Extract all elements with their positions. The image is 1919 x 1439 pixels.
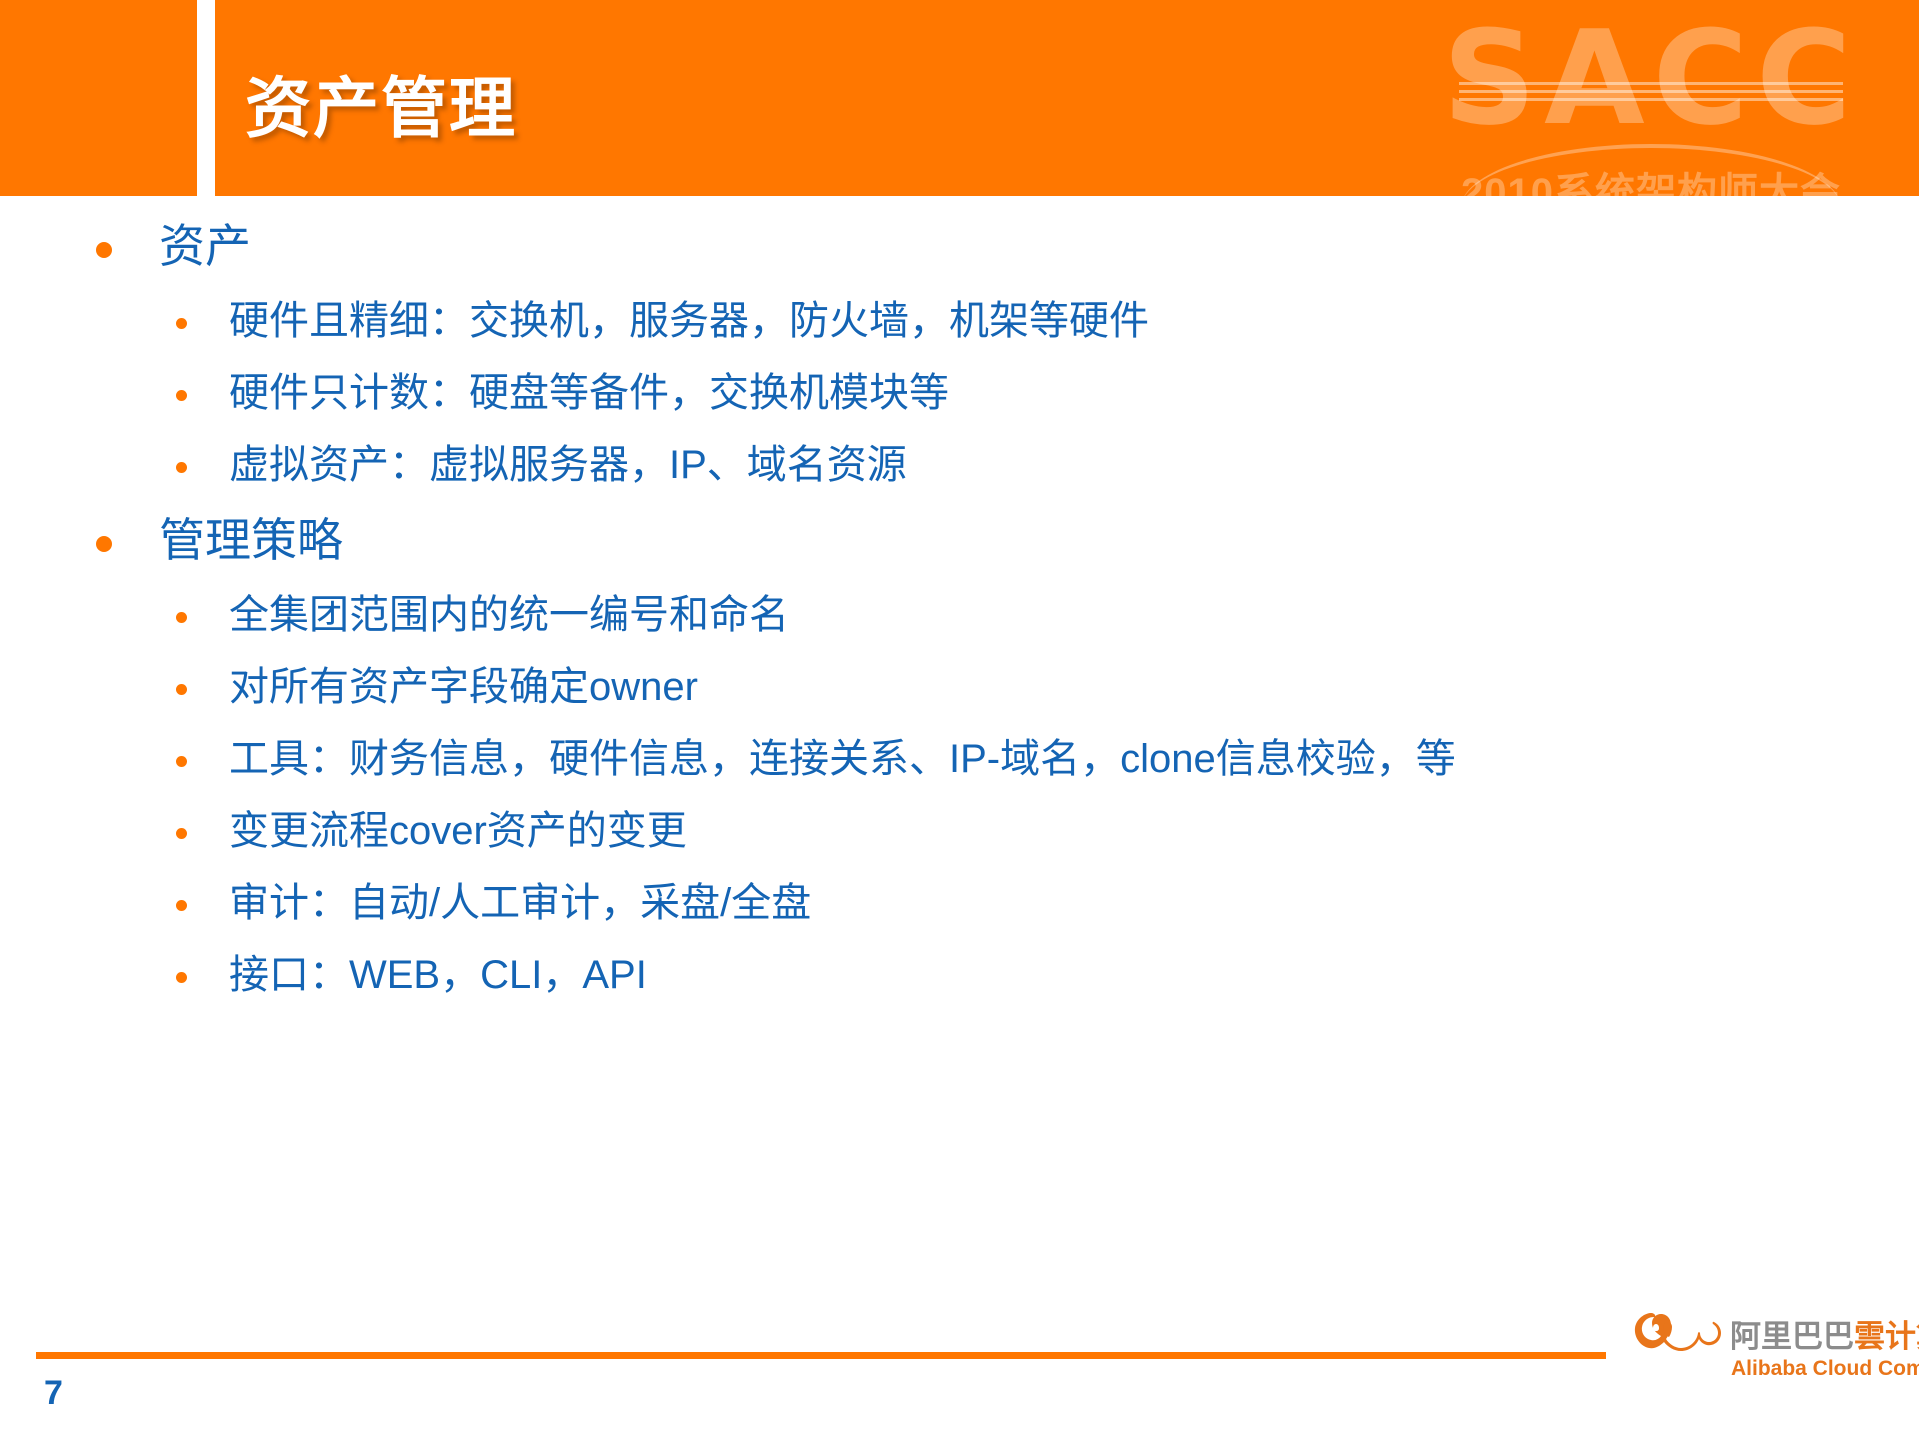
bullet-level2: 硬件且精细：交换机，服务器，防火墙，机架等硬件: [176, 296, 1919, 346]
alibaba-cloud-name-cn-accent: 雲计算: [1854, 1319, 1919, 1354]
bullet-marker-icon: [176, 318, 187, 329]
alibaba-cloud-logo: 阿里巴巴雲计算 Alibaba Cloud Computing: [1630, 1283, 1910, 1405]
bullet-level2: 对所有资产字段确定owner: [176, 662, 1919, 712]
bullet-level2-label: 接口：WEB，CLI，API: [229, 950, 647, 1000]
bullet-level1: 管理策略: [96, 512, 1919, 568]
bullet-level2-label: 全集团范围内的统一编号和命名: [229, 590, 789, 640]
bullet-level2-label: 硬件且精细：交换机，服务器，防火墙，机架等硬件: [229, 296, 1149, 346]
bullet-level2: 工具：财务信息，硬件信息，连接关系、IP-域名，clone信息校验，等: [176, 734, 1919, 784]
alibaba-cloud-name-cn: 阿里巴巴雲计算: [1730, 1311, 1919, 1356]
alibaba-cloud-name-en: Alibaba Cloud Computing: [1731, 1357, 1919, 1381]
alibaba-cloud-name-cn-primary: 阿里巴巴: [1730, 1319, 1854, 1354]
bullet-level1: 资产: [96, 218, 1919, 274]
header-left-block: [0, 0, 197, 196]
bullet-level2-label: 工具：财务信息，硬件信息，连接关系、IP-域名，clone信息校验，等: [229, 734, 1456, 784]
header-divider: [197, 0, 215, 196]
bullet-marker-icon: [176, 828, 187, 839]
bullet-marker-icon: [176, 390, 187, 401]
page-number: 7: [44, 1374, 63, 1413]
bullet-level2: 虚拟资产：虚拟服务器，IP、域名资源: [176, 440, 1919, 490]
bullet-marker-icon: [176, 612, 187, 623]
page-title: 资产管理: [245, 55, 517, 151]
bullet-level2-label: 硬件只计数：硬盘等备件，交换机模块等: [229, 368, 949, 418]
bullet-marker-icon: [176, 684, 187, 695]
bullet-level2: 全集团范围内的统一编号和命名: [176, 590, 1919, 640]
bullet-level1-label: 管理策略: [159, 512, 343, 568]
bullet-marker-icon: [96, 536, 112, 552]
bullet-level1-label: 资产: [159, 218, 251, 274]
alibaba-cloud-mark-icon: [1632, 1297, 1724, 1369]
bullet-marker-icon: [96, 242, 112, 258]
bullet-marker-icon: [176, 756, 187, 767]
bullet-level2: 变更流程cover资产的变更: [176, 806, 1919, 856]
footer-divider: [36, 1352, 1606, 1359]
bullet-level2-label: 变更流程cover资产的变更: [229, 806, 687, 856]
bullet-level2-label: 对所有资产字段确定owner: [229, 662, 698, 712]
bullet-level2-label: 虚拟资产：虚拟服务器，IP、域名资源: [229, 440, 907, 490]
bullet-marker-icon: [176, 972, 187, 983]
bullet-level2: 审计：自动/人工审计，采盘/全盘: [176, 878, 1919, 928]
bullet-level2-label: 审计：自动/人工审计，采盘/全盘: [229, 878, 811, 928]
slide-header: 资产管理 SACC 2010系统架构师大会: [0, 0, 1919, 196]
slide-body: 资产 硬件且精细：交换机，服务器，防火墙，机架等硬件 硬件只计数：硬盘等备件，交…: [0, 196, 1919, 1346]
bullet-level2: 接口：WEB，CLI，API: [176, 950, 1919, 1000]
bullet-marker-icon: [176, 462, 187, 473]
bullet-marker-icon: [176, 900, 187, 911]
bullet-level2: 硬件只计数：硬盘等备件，交换机模块等: [176, 368, 1919, 418]
